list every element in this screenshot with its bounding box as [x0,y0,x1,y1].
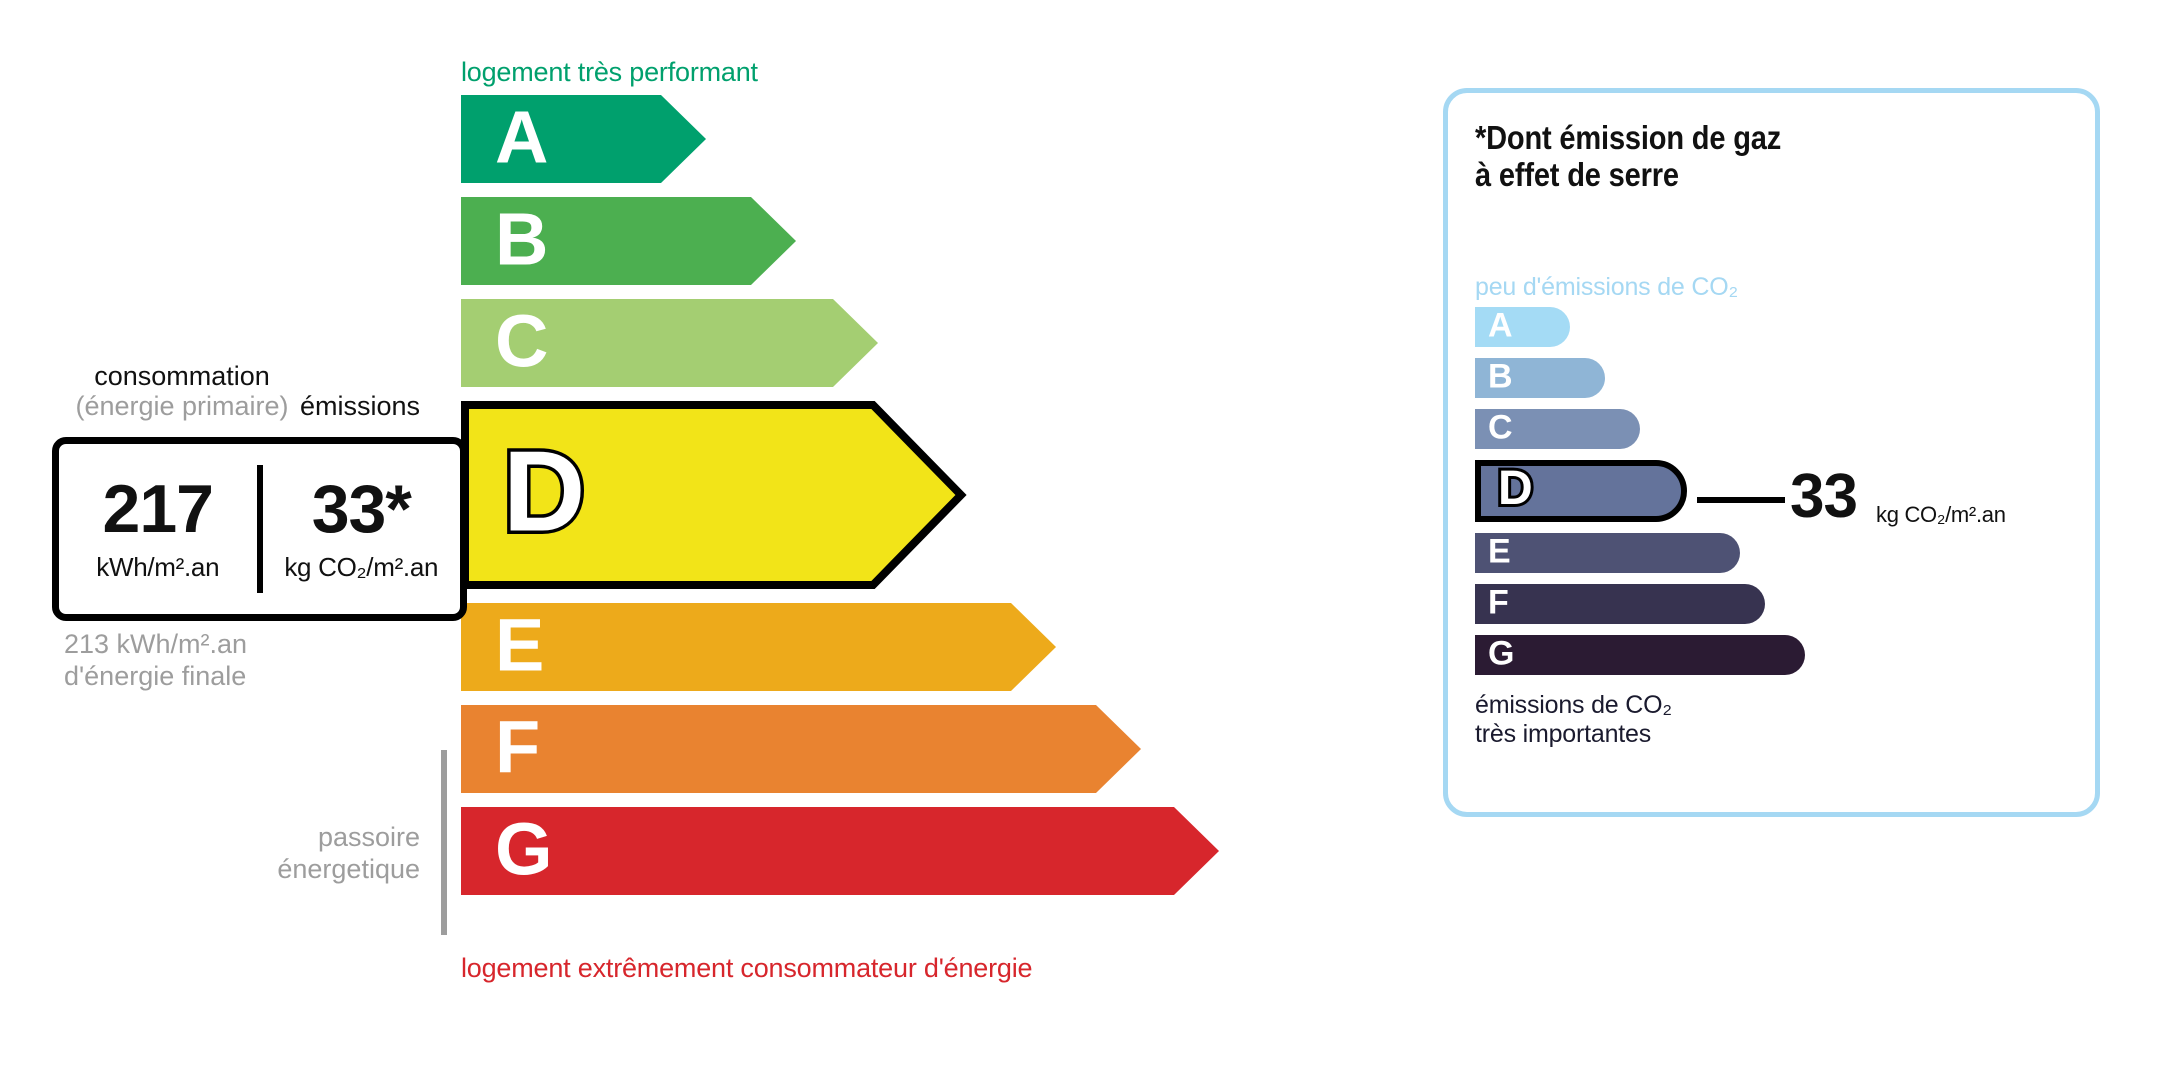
consumption-value: 217 [59,475,257,543]
energy-bar-a-letter: A [495,101,548,175]
energy-bar-g: G [461,807,1219,895]
co2-bar-f: F [1475,584,1765,624]
co2-leader-line [1697,497,1785,503]
energy-bar-f: F [461,705,1219,793]
energy-bar-list: A B C D E F G [461,95,1219,909]
energy-bar-b-letter: B [495,203,548,277]
emissions-caption: émissions [300,391,420,422]
consumption-caption-sub: (énergie primaire) [34,391,330,422]
co2-bottom-line2: très importantes [1475,720,1672,749]
co2-title-line2: à effet de serre [1475,157,1781,194]
emissions-unit: kg CO₂/m².an [263,552,461,583]
co2-unit: kg CO₂/m².an [1876,502,2006,528]
consumption-cell: 217 kWh/m².an [59,475,257,583]
co2-bar-a: A [1475,307,1570,347]
co2-value: 33 [1790,466,1857,528]
co2-bar-g: G [1475,635,1805,675]
consumption-value-box: 217 kWh/m².an 33* kg CO₂/m².an [52,437,467,621]
emissions-value: 33* [263,475,461,543]
passoire-line2: énergetique [200,854,420,886]
final-energy-line1: 213 kWh/m².an [64,629,247,661]
final-energy-note: 213 kWh/m².an d'énergie finale [64,629,247,693]
co2-bar-c-letter: C [1488,411,1513,445]
passoire-bracket [441,750,447,935]
co2-bar-b-letter: B [1488,360,1513,394]
energy-bar-d: D [461,401,1219,589]
co2-bar-b: B [1475,358,1605,398]
co2-bar-e-letter: E [1488,535,1511,569]
emissions-cell: 33* kg CO₂/m².an [263,475,461,583]
co2-bottom-label: émissions de CO₂ très importantes [1475,691,1672,749]
co2-bottom-line1: émissions de CO₂ [1475,691,1672,720]
co2-bar-c: C [1475,409,1640,449]
consumption-unit: kWh/m².an [59,552,257,583]
co2-panel-title: *Dont émission de gaz à effet de serre [1475,120,1781,194]
energy-bar-g-letter: G [495,813,553,887]
energy-bar-a: A [461,95,1219,183]
energy-bottom-label: logement extrêmement consommateur d'éner… [461,953,1032,984]
passoire-line1: passoire [200,822,420,854]
co2-bar-e: E [1475,533,1740,573]
energy-top-label: logement très performant [461,57,758,88]
dpe-diagram: logement très performant A B C D E F [0,0,2169,1079]
consumption-caption: consommation [62,361,302,392]
co2-title-line1: *Dont émission de gaz [1475,120,1781,157]
co2-bar-d-letter: D [1498,465,1533,513]
energy-bar-b: B [461,197,1219,285]
energy-bar-c-letter: C [495,305,548,379]
co2-bar-d: D [1475,460,1687,522]
passoire-label: passoire énergetique [200,822,420,886]
final-energy-line2: d'énergie finale [64,661,247,693]
energy-bar-e: E [461,603,1219,691]
co2-top-label: peu d'émissions de CO₂ [1475,273,1738,302]
energy-bar-e-letter: E [495,609,544,683]
co2-bar-a-letter: A [1488,309,1513,343]
energy-bar-f-letter: F [495,711,540,785]
co2-bar-g-letter: G [1488,637,1514,671]
co2-bar-f-letter: F [1488,586,1509,620]
energy-bar-c: C [461,299,1219,387]
energy-bar-d-letter: D [503,436,585,550]
